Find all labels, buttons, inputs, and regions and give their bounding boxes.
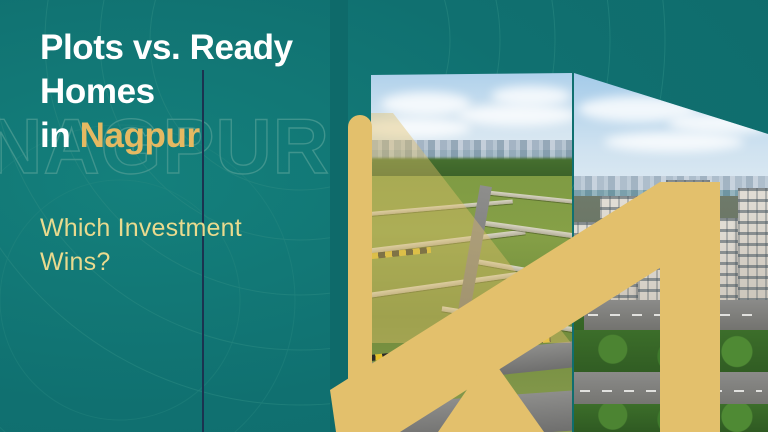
photo-collage (371, 0, 768, 432)
page-subtitle: Which InvestmentWins? (40, 212, 340, 280)
subtitle-line-2: Wins? (40, 248, 110, 276)
ready-homes-photo (574, 0, 768, 432)
title-line-1: Plots vs. Ready Homes (40, 28, 293, 111)
open-plots-photo (371, 0, 574, 432)
gold-accent-bar (348, 115, 372, 432)
headline-block: Plots vs. Ready Homesin Nagpur (40, 26, 370, 158)
banner-canvas: NAGPUR (0, 0, 768, 432)
page-title: Plots vs. Ready Homesin Nagpur (40, 26, 370, 158)
title-line-2-prefix: in (40, 116, 80, 155)
subtitle-line-1: Which Investment (40, 214, 242, 242)
title-city-accent: Nagpur (80, 116, 200, 155)
